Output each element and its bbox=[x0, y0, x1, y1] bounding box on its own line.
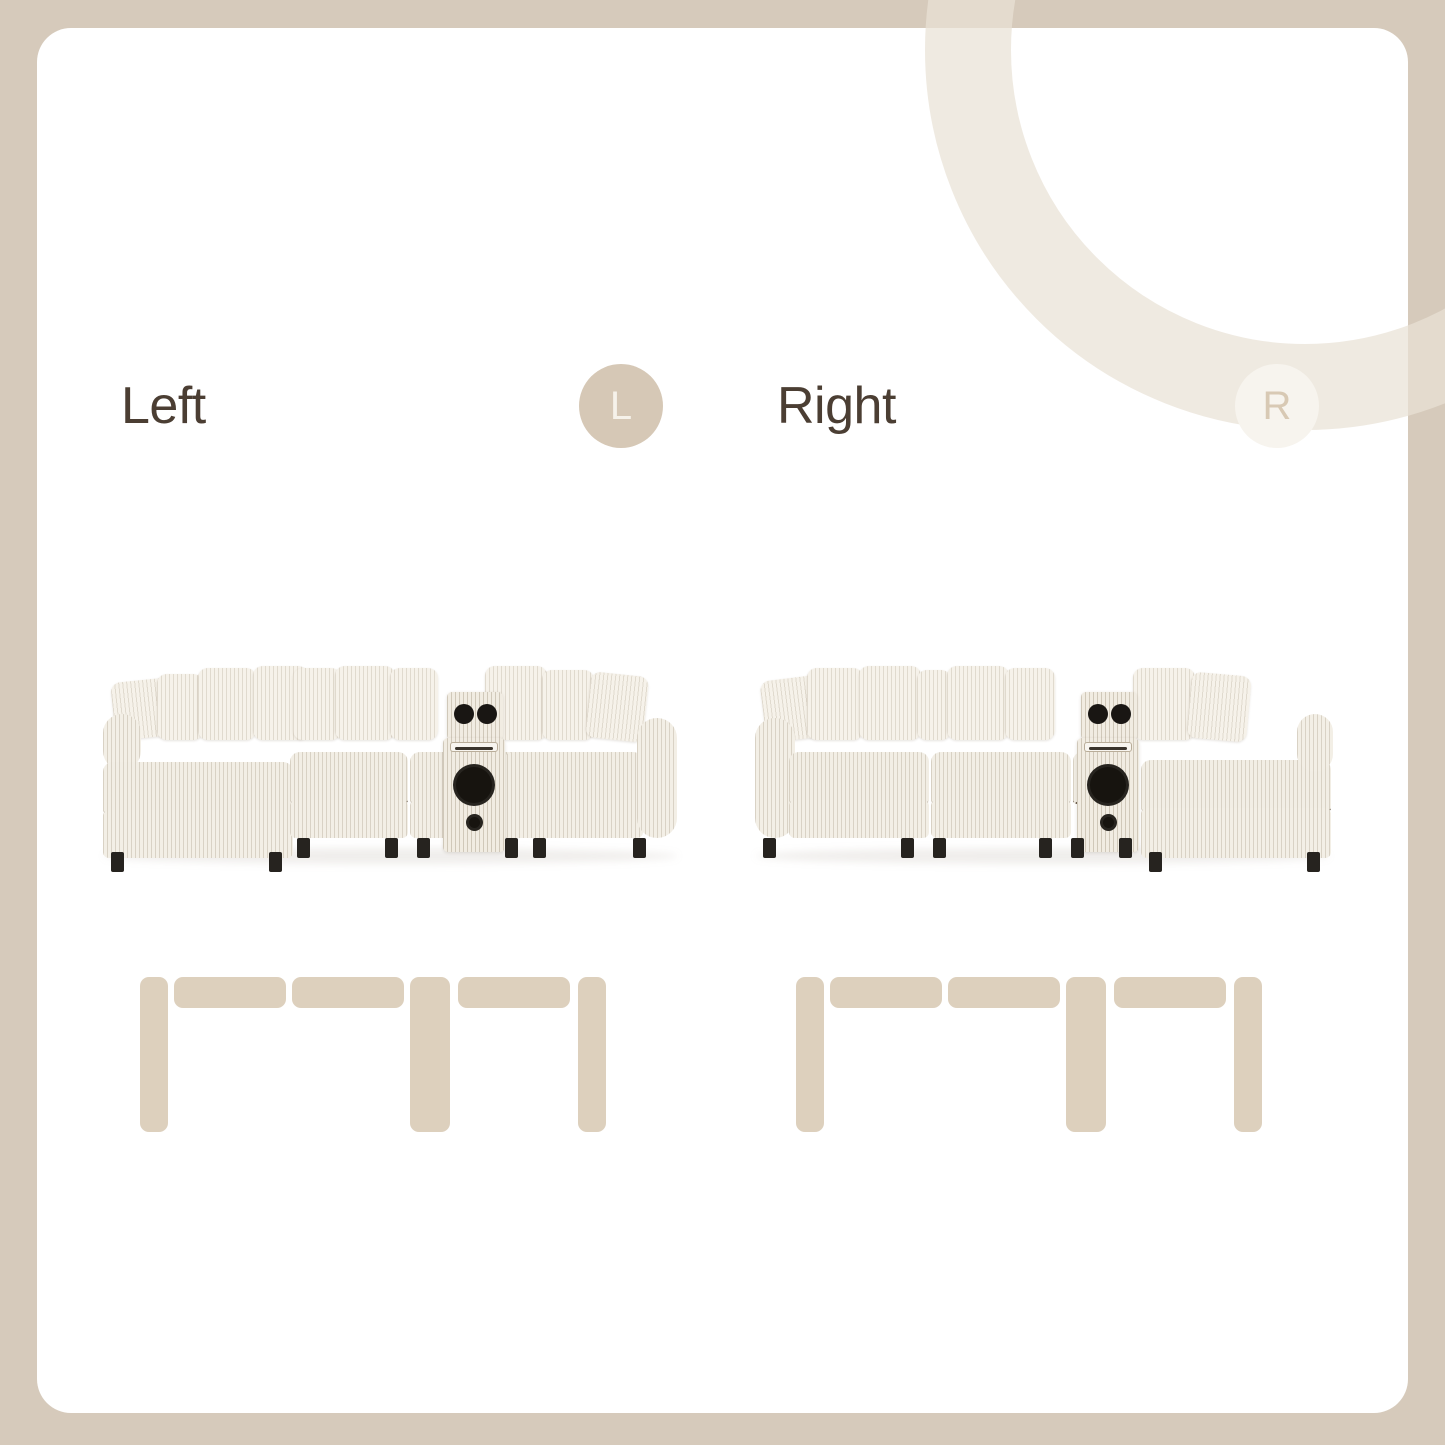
diagram-armrest-end bbox=[578, 977, 606, 1132]
sofa-left bbox=[85, 652, 691, 902]
diagram-armrest bbox=[140, 977, 168, 1132]
sofa-foot bbox=[1071, 838, 1084, 858]
panel-right-title: Right bbox=[777, 376, 896, 436]
sofa-arm-right bbox=[637, 718, 677, 838]
diagram-backrest bbox=[174, 977, 286, 1008]
seat-cushion bbox=[290, 752, 408, 804]
seat-base bbox=[503, 800, 643, 838]
sofa-image-right bbox=[741, 652, 1347, 902]
back-pillow bbox=[198, 668, 256, 740]
diagram-seat bbox=[174, 1013, 286, 1132]
back-pillow bbox=[1133, 668, 1195, 740]
diagram-armrest bbox=[796, 977, 824, 1132]
cup-holder-icon bbox=[1088, 704, 1108, 724]
sofa-foot bbox=[1119, 838, 1132, 858]
sofa-foot bbox=[505, 838, 518, 858]
seat-cushion bbox=[503, 752, 643, 804]
diagram-seat bbox=[458, 1013, 570, 1132]
sofa-foot bbox=[111, 852, 124, 872]
sofa-foot bbox=[417, 838, 430, 858]
cup-holder-icon bbox=[454, 704, 474, 724]
back-pillow bbox=[390, 668, 438, 740]
seat-base bbox=[290, 800, 408, 838]
badge-left-icon: L bbox=[579, 364, 663, 448]
seat-cushion bbox=[789, 752, 929, 804]
cup-holder-icon bbox=[1111, 704, 1131, 724]
diagram-backrest bbox=[830, 977, 942, 1008]
back-pillow bbox=[1005, 668, 1055, 740]
diagram-seat bbox=[948, 1013, 1060, 1132]
seat-cushion bbox=[931, 752, 1071, 804]
diagram-seat bbox=[1114, 1013, 1226, 1132]
sofa-foot bbox=[533, 838, 546, 858]
diagram-backrest bbox=[948, 977, 1060, 1008]
diagram-left bbox=[140, 977, 640, 1287]
back-pillow bbox=[293, 668, 341, 740]
sofa-arm-right bbox=[1297, 714, 1333, 772]
sofa-foot bbox=[269, 852, 282, 872]
back-pillow bbox=[1186, 672, 1252, 743]
diagram-backrest bbox=[1114, 977, 1226, 1008]
panel-left-header: Left L bbox=[121, 364, 663, 448]
sofa-foot bbox=[1307, 852, 1320, 872]
sofa-right bbox=[741, 652, 1347, 902]
diagram-console bbox=[1066, 977, 1106, 1132]
chaise-base bbox=[103, 810, 293, 858]
diagram-armrest-end bbox=[1234, 977, 1262, 1132]
sofa-foot bbox=[901, 838, 914, 858]
chaise-base bbox=[1141, 808, 1331, 858]
diagram-backrest bbox=[458, 977, 570, 1008]
back-pillow bbox=[859, 666, 921, 740]
chaise-cushion bbox=[103, 762, 293, 814]
badge-right-icon: R bbox=[1235, 364, 1319, 448]
sofa-foot bbox=[1149, 852, 1162, 872]
speaker-small-icon bbox=[466, 814, 483, 831]
seat-base bbox=[931, 800, 1071, 838]
diagram-chaise-ottoman bbox=[174, 1138, 286, 1283]
back-pillow bbox=[947, 666, 1009, 740]
sofa-foot bbox=[1039, 838, 1052, 858]
back-pillow bbox=[157, 674, 203, 740]
diagram-backrest bbox=[292, 977, 404, 1008]
charging-panel-icon bbox=[450, 742, 498, 752]
sofa-foot bbox=[763, 838, 776, 858]
charging-panel-icon bbox=[1084, 742, 1132, 752]
speaker-small-icon bbox=[1100, 814, 1117, 831]
cup-holder-icon bbox=[477, 704, 497, 724]
seat-base bbox=[789, 800, 929, 838]
diagram-seat bbox=[292, 1013, 404, 1132]
back-pillow bbox=[917, 670, 951, 740]
speaker-icon bbox=[453, 764, 495, 806]
sofa-image-left bbox=[85, 652, 691, 902]
panel-right-header: Right R bbox=[777, 364, 1319, 448]
sofa-foot bbox=[385, 838, 398, 858]
diagram-seat bbox=[830, 1013, 942, 1132]
back-pillow bbox=[335, 666, 395, 740]
diagram-chaise-ottoman bbox=[1114, 1138, 1226, 1283]
diagram-console bbox=[410, 977, 450, 1132]
sofa-foot bbox=[633, 838, 646, 858]
sofa-foot bbox=[933, 838, 946, 858]
diagram-right bbox=[796, 977, 1296, 1287]
speaker-icon bbox=[1087, 764, 1129, 806]
back-pillow bbox=[807, 668, 863, 740]
sofa-foot bbox=[297, 838, 310, 858]
panel-left-title: Left bbox=[121, 376, 206, 436]
